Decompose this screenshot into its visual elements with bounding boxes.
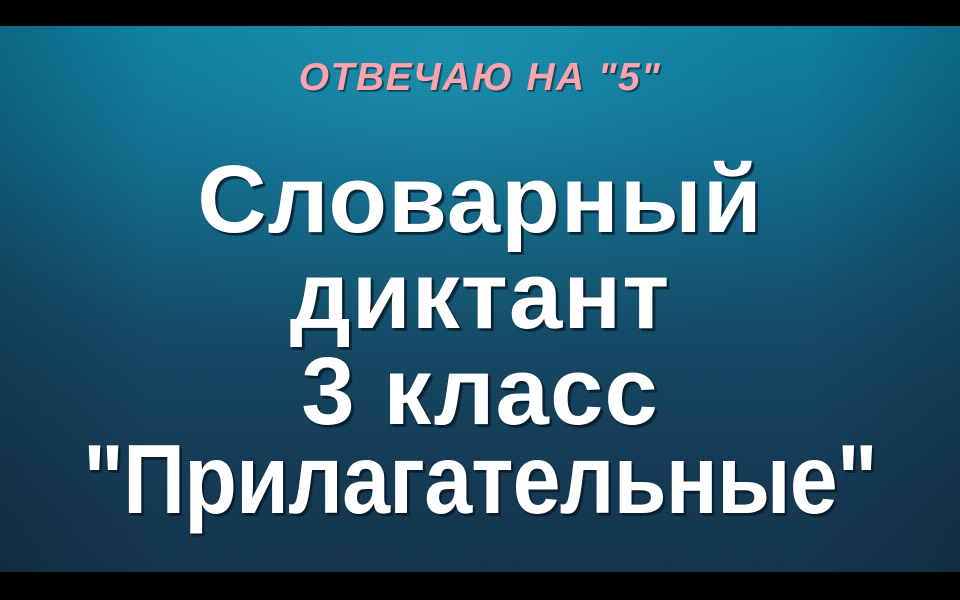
background-noise-texture [0, 26, 960, 572]
title-text-stack: ОТВЕЧАЮ НА "5" Словарный диктант 3 класс… [0, 26, 960, 572]
letterbox-bar-bottom [0, 572, 960, 600]
background-vignette [0, 26, 960, 572]
title-line-1: Словарный [0, 152, 960, 248]
title-line-4: "Прилагательные" [58, 430, 903, 528]
title-line-3: 3 класс [0, 344, 960, 440]
video-slide: ОТВЕЧАЮ НА "5" Словарный диктант 3 класс… [0, 0, 960, 600]
slide-canvas: ОТВЕЧАЮ НА "5" Словарный диктант 3 класс… [0, 26, 960, 572]
letterbox-bar-top [0, 0, 960, 26]
kicker-text: ОТВЕЧАЮ НА "5" [0, 58, 960, 97]
title-line-2: диктант [0, 248, 960, 344]
